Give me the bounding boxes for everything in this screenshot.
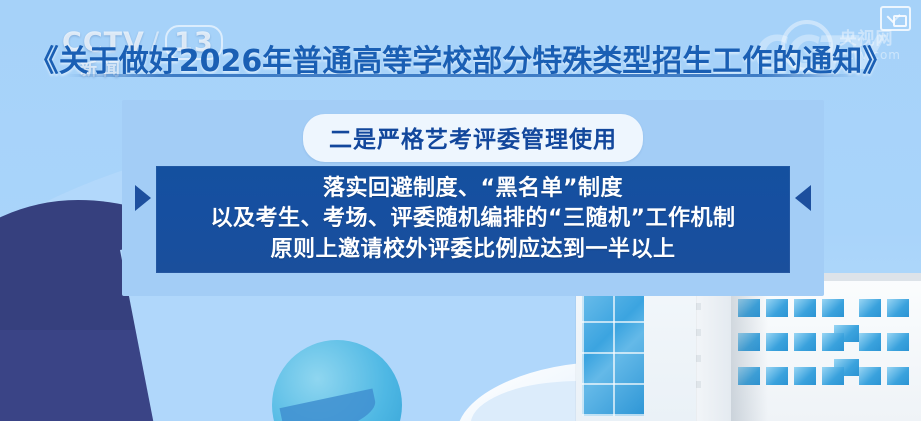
card-body-line: 原则上邀请校外评委比例应达到一半以上: [270, 236, 675, 264]
card-body-line: 落实回避制度、“黑名单”制度: [323, 175, 623, 203]
title-underline: [66, 74, 859, 77]
info-card: 二是严格艺考评委管理使用 落实回避制度、“黑名单”制度 以及考生、考场、评委随机…: [122, 100, 824, 296]
card-body-panel: 落实回避制度、“黑名单”制度 以及考生、考场、评委随机编排的“三随机”工作机制 …: [156, 166, 790, 273]
building-shadow: [726, 279, 768, 421]
broadcast-frame: CCTV / 13 新闻 CCTV 央视网 cctv.com 《关于做好2026…: [0, 0, 921, 421]
card-heading-pill: 二是严格艺考评委管理使用: [303, 114, 643, 162]
right-chevron-icon: [795, 185, 811, 211]
picture-in-picture-icon[interactable]: [880, 6, 911, 31]
card-body-line: 以及考生、考场、评委随机编排的“三随机”工作机制: [211, 205, 736, 233]
left-chevron-icon: [135, 185, 151, 211]
